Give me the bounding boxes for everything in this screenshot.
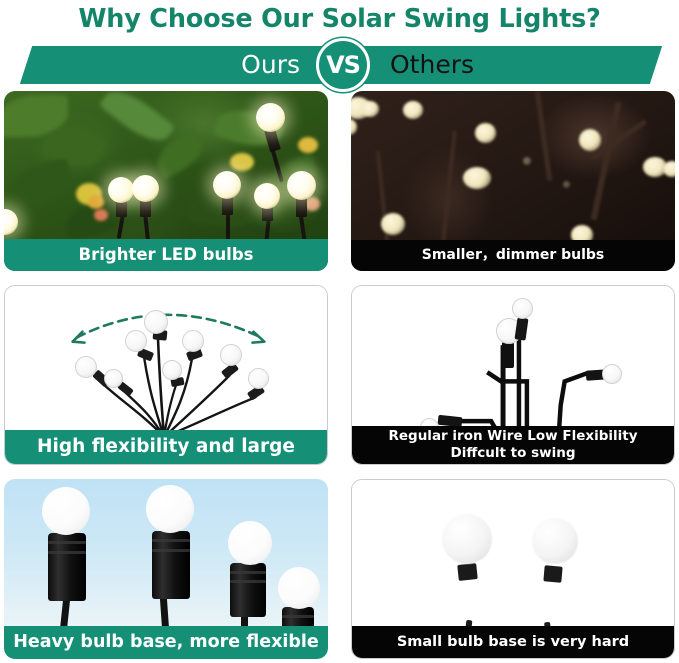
- ours-label: Ours: [180, 46, 300, 84]
- caption-ours-row1: Brighter LED bulbs: [4, 239, 328, 271]
- product-comparison-infographic: Why Choose Our Solar Swing Lights? Ours …: [0, 0, 679, 663]
- others-label: Others: [390, 46, 550, 84]
- caption-theirs-row2: Regular iron Wire Low Flexibility Diffcu…: [352, 426, 674, 464]
- panel-theirs-row3: Small bulb base is very hard: [351, 479, 675, 659]
- page-title: Why Choose Our Solar Swing Lights?: [0, 4, 679, 34]
- vs-badge: VS: [316, 38, 370, 92]
- caption-theirs-row3: Small bulb base is very hard: [352, 626, 674, 658]
- vs-badge-label: VS: [326, 53, 360, 77]
- caption-ours-row3: Heavy bulb base, more flexible: [4, 626, 328, 659]
- panel-theirs-row2: Regular iron Wire Low Flexibility Diffcu…: [351, 285, 675, 465]
- panel-ours-row3: Heavy bulb base, more flexible: [4, 479, 328, 659]
- caption-theirs-row2-line1: Regular iron Wire Low Flexibility: [352, 428, 674, 445]
- caption-ours-row2: High flexibility and large angle swing: [5, 430, 327, 464]
- comparison-grid: Brighter LED bulbs: [4, 91, 675, 661]
- panel-ours-row2: High flexibility and large angle swing: [4, 285, 328, 465]
- panel-theirs-row1: Smaller，dimmer bulbs: [351, 91, 675, 271]
- panel-ours-row1: Brighter LED bulbs: [4, 91, 328, 271]
- caption-theirs-row2-line2: Diffcult to swing: [352, 445, 674, 462]
- caption-theirs-row1: Smaller，dimmer bulbs: [351, 240, 675, 271]
